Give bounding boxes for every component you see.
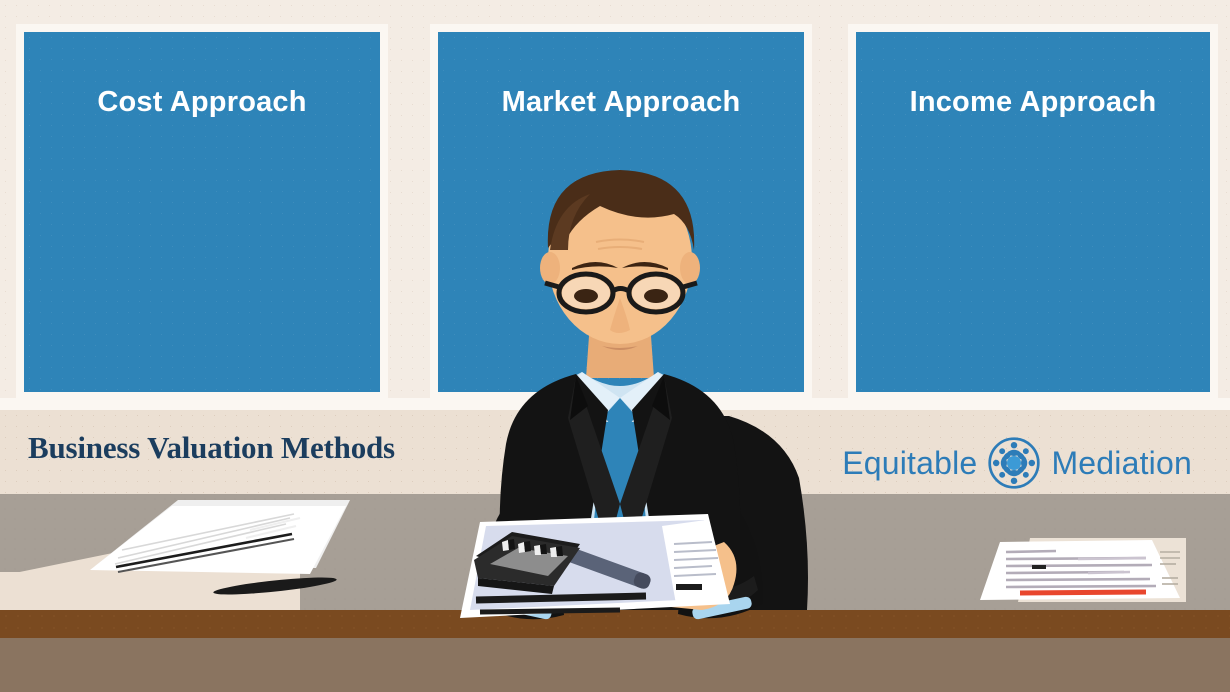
calculator[interactable]	[468, 520, 598, 605]
papers-right	[960, 520, 1210, 635]
panel-cost-approach[interactable]: Cost Approach	[16, 24, 388, 400]
panel-label-income: Income Approach	[848, 86, 1218, 119]
panel-label-cost: Cost Approach	[16, 86, 388, 119]
panel-income-approach[interactable]: Income Approach	[848, 24, 1218, 400]
desk-front-panel	[0, 638, 1230, 692]
logo-word-right: Mediation	[1051, 445, 1192, 482]
panel-label-market: Market Approach	[430, 86, 812, 119]
mediation-people-circle-icon	[987, 436, 1041, 490]
logo-word-left: Equitable	[842, 445, 977, 482]
scene: Cost Approach Market Approach Income App…	[0, 0, 1230, 692]
papers-left	[60, 488, 380, 613]
page-title: Business Valuation Methods	[28, 430, 395, 466]
brand-logo[interactable]: Equitable	[842, 436, 1192, 490]
